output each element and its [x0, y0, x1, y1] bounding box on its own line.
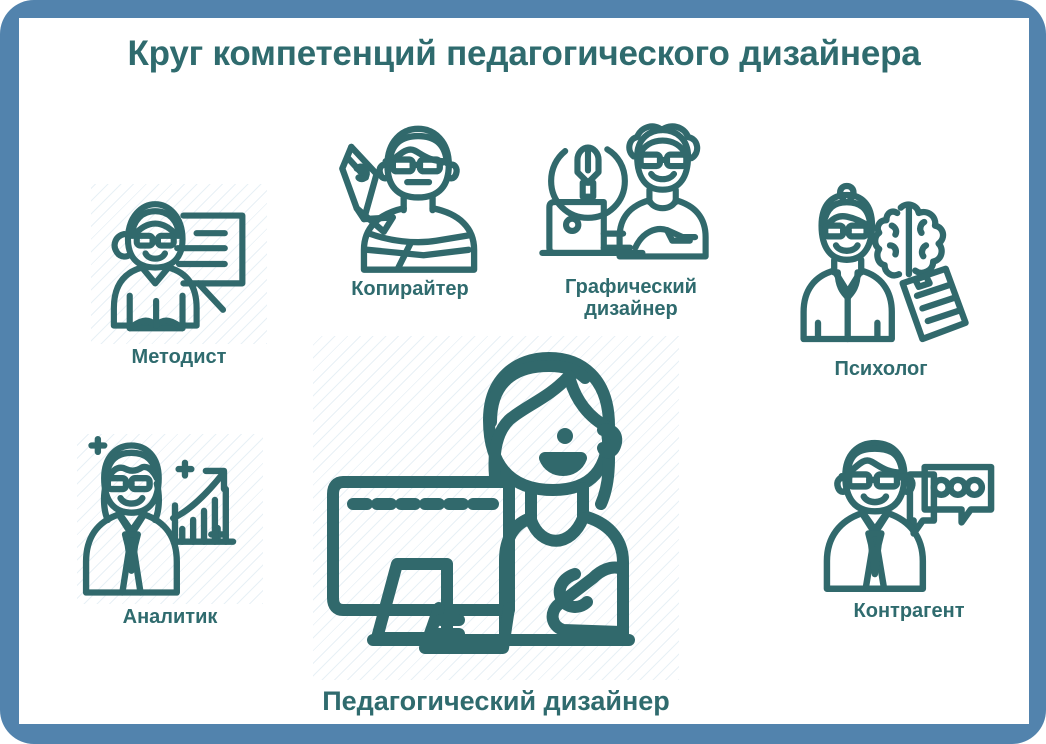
competency-psychologist[interactable]: Психолог [791, 178, 971, 380]
competency-contractor[interactable]: Контрагент [811, 432, 1007, 622]
center-role-label: Педагогический дизайнер [313, 686, 679, 716]
woman-with-growth-chart-icon [77, 434, 263, 604]
competency-label: Графический дизайнер [531, 276, 731, 321]
designer-with-laptop-and-pen-tool-icon [531, 116, 731, 274]
competency-graphic-designer[interactable]: Графический дизайнер [531, 116, 731, 321]
competency-label: Методист [91, 346, 267, 368]
psychologist-icon [791, 178, 971, 356]
competency-label: Аналитик [77, 606, 263, 628]
man-with-speech-bubbles-icon [811, 432, 1007, 598]
instructional-designer-icon [313, 336, 679, 680]
woman-with-flipchart-icon [91, 184, 267, 344]
competency-label: Копирайтер [322, 278, 498, 300]
competency-copywriter[interactable]: Копирайтер [322, 118, 498, 300]
woman-at-computer-icon [313, 336, 679, 680]
woman-with-brain-and-clipboard-icon [791, 178, 971, 356]
contractor-icon [811, 432, 1007, 598]
poster-canvas: Круг компетенций педагогического дизайне… [19, 18, 1029, 724]
center-role[interactable]: Педагогический дизайнер [313, 336, 679, 716]
competency-label: Контрагент [811, 600, 1007, 622]
poster-frame: Круг компетенций педагогического дизайне… [0, 0, 1046, 744]
competency-analyst[interactable]: Аналитик [77, 434, 263, 628]
graphic-designer-icon [531, 116, 731, 274]
competency-label: Психолог [791, 358, 971, 380]
methodist-icon [91, 184, 267, 344]
competency-methodist[interactable]: Методист [91, 184, 267, 368]
copywriter-icon [322, 118, 498, 276]
man-with-fountain-pen-icon [322, 118, 498, 276]
analyst-icon [77, 434, 263, 604]
page-title: Круг компетенций педагогического дизайне… [19, 34, 1029, 74]
